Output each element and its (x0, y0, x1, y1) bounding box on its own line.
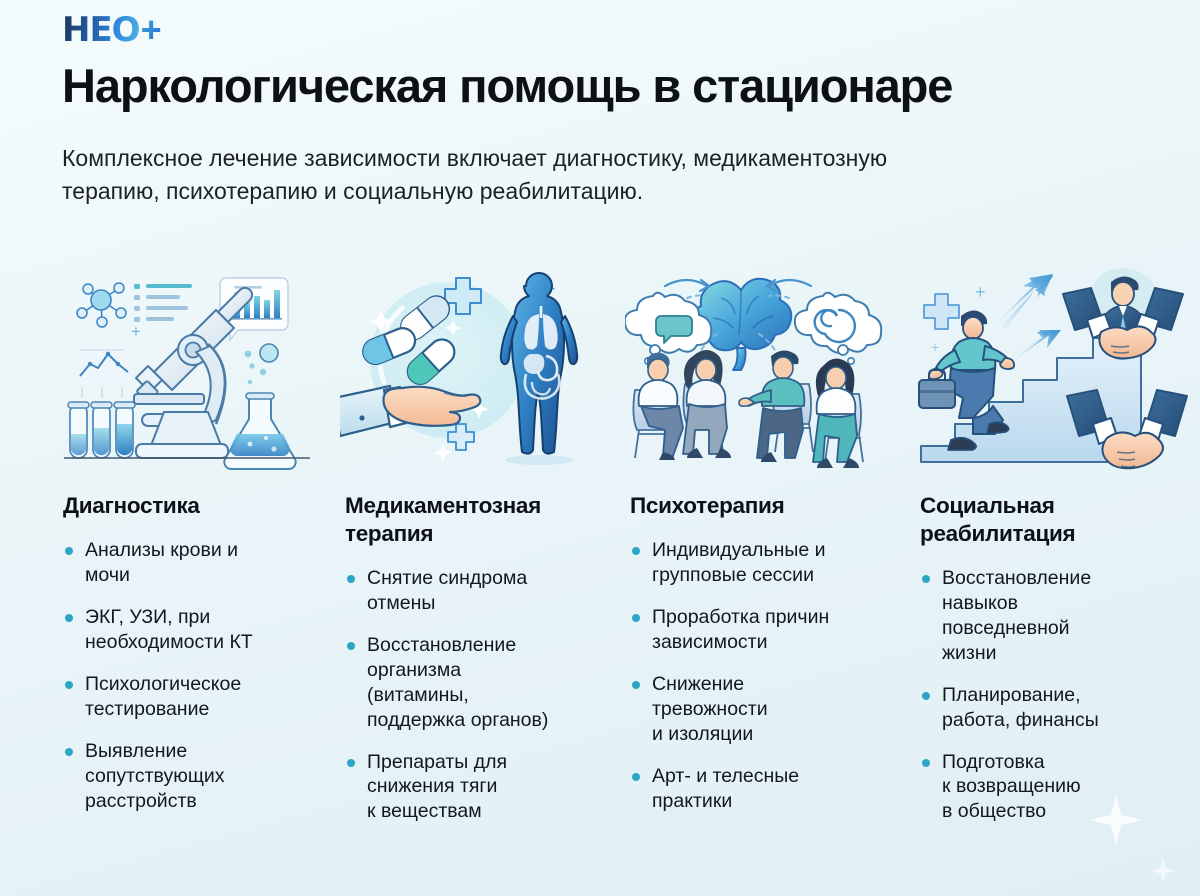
test-tubes-icon (68, 402, 135, 458)
growth-arrow-icon (993, 274, 1053, 330)
group-therapy-session-illustration (625, 262, 910, 474)
svg-text:+: + (131, 322, 141, 341)
hand-with-pills-and-body-illustration: + (340, 262, 620, 474)
list-item: Психологическое тестирование (63, 672, 348, 722)
bullet-list-medication-therapy: Снятие синдрома отмены Восстановление ор… (340, 566, 620, 825)
list-item: ЭКГ, УЗИ, при необходимости КТ (63, 605, 348, 655)
column-heading-psychotherapy: Психотерапия (625, 492, 910, 520)
columns-container: + (0, 262, 1200, 841)
erlenmeyer-flask-icon (224, 344, 295, 469)
laboratory-microscope-illustration: + (58, 262, 348, 474)
line-chart-icon (76, 346, 132, 398)
list-item: Индивидуальные и групповые сессии (630, 538, 910, 588)
medical-cross-icon (924, 294, 959, 329)
list-item: Выявление сопутствующих расстройств (63, 739, 348, 814)
person-icon (813, 358, 859, 468)
plus-sign-icon: + (975, 282, 986, 302)
person-icon (739, 350, 804, 462)
column-medication-therapy: + (340, 262, 620, 841)
bullet-list-psychotherapy: Индивидуальные и групповые сессии Прораб… (625, 538, 910, 814)
person-icon (683, 350, 731, 458)
microscope-icon (134, 288, 252, 458)
list-item: Арт- и телесные практики (630, 764, 910, 814)
list-item: Снятие синдрома отмены (345, 566, 620, 616)
bullet-list-social-rehabilitation: Восстановление навыков повседневной жизн… (915, 566, 1195, 825)
document-lines-icon (134, 284, 192, 322)
list-item: Снижение тревожности и изоляции (630, 672, 910, 747)
infographic-page: НЕО + Наркологическая помощь в стационар… (0, 0, 1200, 896)
person-icon (639, 352, 683, 460)
plus-sign-small-icon: + (931, 339, 939, 355)
brand-logo: НЕО + (62, 10, 162, 50)
list-item: Препараты для снижения тяги к веществам (345, 750, 620, 825)
human-body-anatomy-icon (501, 273, 577, 454)
handshake-with-person-icon (1063, 268, 1183, 359)
column-heading-medication-therapy: Медикаментозная терапия (340, 492, 620, 548)
bullet-list-diagnostics: Анализы крови и мочи ЭКГ, УЗИ, при необх… (58, 538, 348, 814)
page-subtitle: Комплексное лечение зависимости включает… (62, 142, 952, 207)
column-social-rehabilitation: + + (915, 262, 1195, 841)
list-item: Планирование, работа, финансы (920, 683, 1195, 733)
column-heading-diagnostics: Диагностика (58, 492, 348, 520)
list-item: Восстановление организма (витамины, подд… (345, 633, 620, 733)
logo-plus-icon: + (141, 12, 162, 48)
column-diagnostics: + (58, 262, 348, 841)
list-item: Анализы крови и мочи (63, 538, 348, 588)
thought-cloud-right-icon (795, 293, 882, 364)
list-item: Подготовка к возвращению в общество (920, 750, 1195, 825)
page-title: Наркологическая помощь в стационаре (62, 60, 1162, 112)
career-steps-and-handshake-illustration: + + (915, 262, 1195, 474)
sparkle-decoration-small-icon (1150, 858, 1176, 884)
list-item: Проработка причин зависимости (630, 605, 910, 655)
column-heading-social-rehabilitation: Социальная реабилитация (915, 492, 1195, 548)
column-psychotherapy: Психотерапия Индивидуальные и групповые … (625, 262, 910, 841)
list-item: Восстановление навыков повседневной жизн… (920, 566, 1195, 666)
logo-text: НЕО (62, 13, 140, 47)
